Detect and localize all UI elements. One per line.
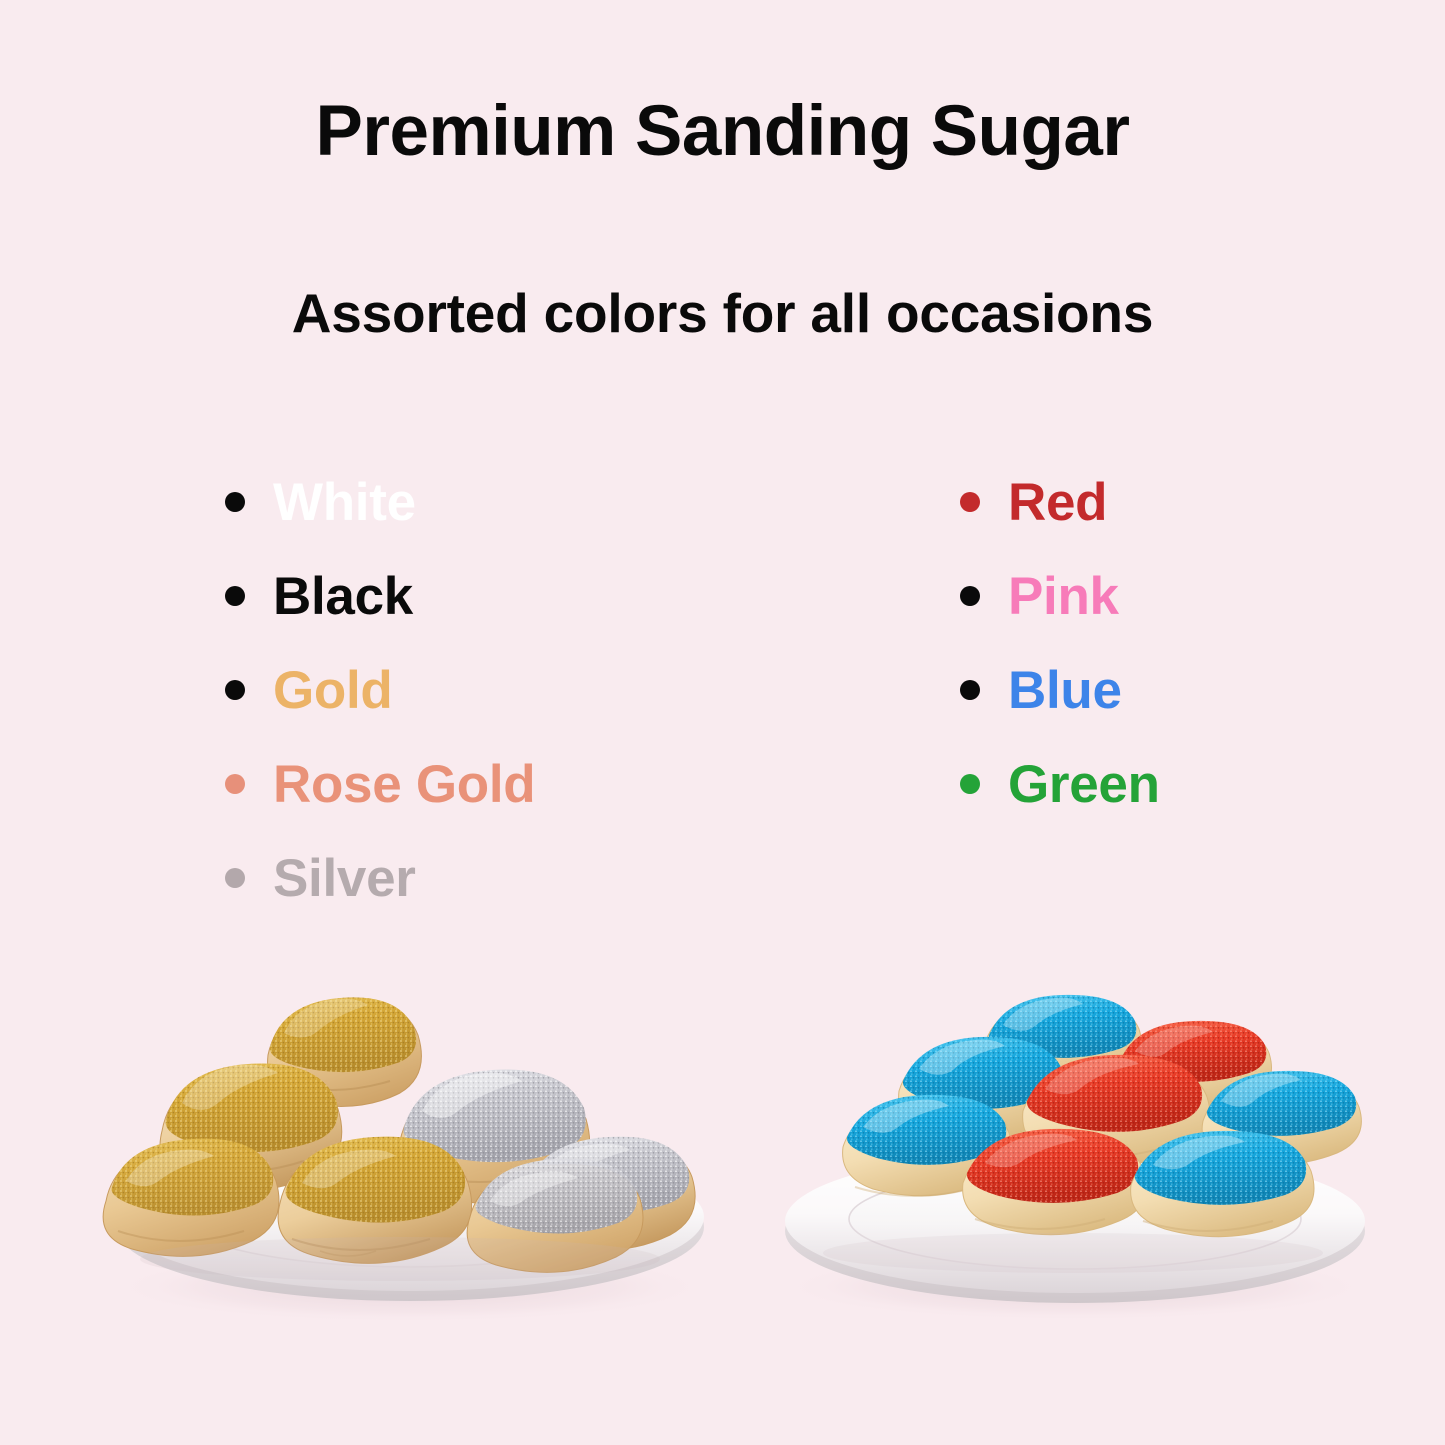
list-item: Gold	[225, 643, 535, 737]
color-label-blue: Blue	[1008, 664, 1122, 717]
color-label-white: White	[273, 476, 416, 529]
product-photos	[0, 935, 1445, 1365]
list-item: White	[225, 455, 535, 549]
bullet-icon	[225, 868, 245, 888]
photo-red-blue-cookies	[735, 935, 1415, 1335]
color-list-left: White Black Gold Rose Gold Silver	[225, 455, 535, 925]
list-item: Blue	[960, 643, 1160, 737]
list-item: Black	[225, 549, 535, 643]
list-item: Rose Gold	[225, 737, 535, 831]
bullet-icon	[960, 586, 980, 606]
color-label-green: Green	[1008, 758, 1160, 811]
bullet-icon	[960, 774, 980, 794]
color-options: White Black Gold Rose Gold Silver	[0, 455, 1445, 925]
page-title: Premium Sanding Sugar	[0, 96, 1445, 167]
color-label-silver: Silver	[273, 852, 416, 905]
promo-graphic: Premium Sanding Sugar Assorted colors fo…	[0, 0, 1445, 1445]
color-list-right: Red Pink Blue Green	[960, 455, 1160, 831]
color-label-red: Red	[1008, 476, 1107, 529]
page-subtitle: Assorted colors for all occasions	[0, 286, 1445, 341]
list-item: Red	[960, 455, 1160, 549]
list-item: Green	[960, 737, 1160, 831]
photo-gold-silver-cookies	[70, 935, 750, 1335]
color-label-rose-gold: Rose Gold	[273, 758, 535, 811]
bullet-icon	[960, 680, 980, 700]
bullet-icon	[225, 492, 245, 512]
list-item: Silver	[225, 831, 535, 925]
bullet-icon	[960, 492, 980, 512]
list-item: Pink	[960, 549, 1160, 643]
bullet-icon	[225, 774, 245, 794]
color-label-gold: Gold	[273, 664, 393, 717]
cookie-gold-frontleft	[103, 1139, 279, 1257]
color-label-black: Black	[273, 570, 413, 623]
bullet-icon	[225, 680, 245, 700]
bullet-icon	[225, 586, 245, 606]
color-label-pink: Pink	[1008, 570, 1119, 623]
